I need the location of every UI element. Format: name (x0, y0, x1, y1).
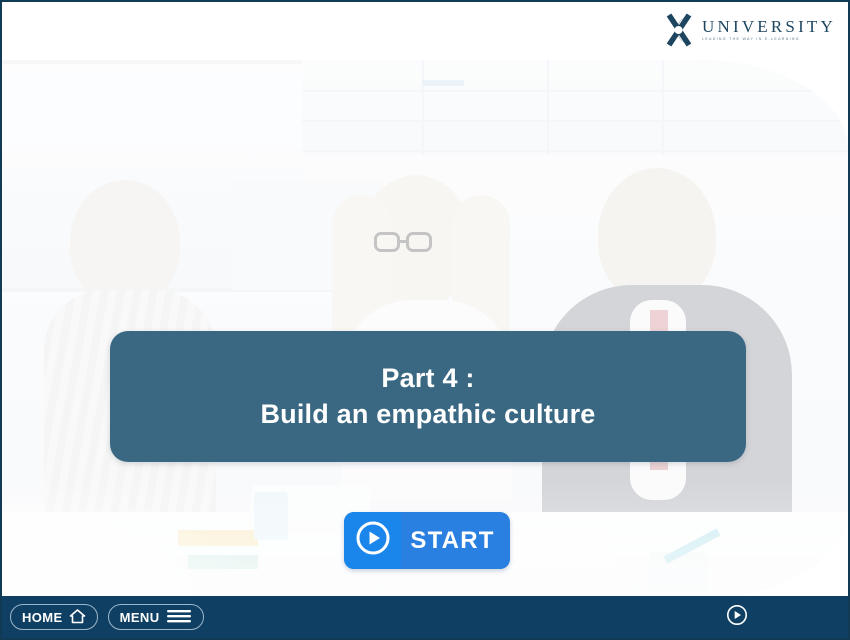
xc-monogram-icon (659, 9, 703, 51)
slide-stage: Part 4 : Build an empathic culture START (2, 60, 848, 598)
slide-title-panel: Part 4 : Build an empathic culture (110, 331, 746, 462)
home-icon (69, 608, 86, 627)
home-button-label: HOME (22, 610, 63, 625)
course-slide: UNIVERSITY LEADING THE WAY IN E-LEARNING (0, 0, 850, 640)
menu-button-label: MENU (120, 610, 160, 625)
start-play-icon-box (344, 512, 401, 569)
logo-tagline: LEADING THE WAY IN E-LEARNING (702, 38, 836, 42)
footer-nav-bar: HOME MENU (2, 596, 848, 638)
menu-button[interactable]: MENU (108, 604, 204, 630)
header-bar: UNIVERSITY LEADING THE WAY IN E-LEARNING (2, 2, 848, 60)
logo-word: UNIVERSITY (702, 18, 836, 35)
title-line-part: Part 4 : (381, 361, 474, 397)
start-button[interactable]: START (344, 512, 510, 569)
start-button-label: START (401, 527, 510, 555)
play-circle-icon (726, 604, 748, 631)
next-button[interactable] (726, 604, 748, 631)
university-logo: UNIVERSITY LEADING THE WAY IN E-LEARNING (659, 8, 836, 52)
title-line-subject: Build an empathic culture (260, 397, 595, 433)
play-circle-icon (354, 519, 392, 562)
logo-wordmark: UNIVERSITY LEADING THE WAY IN E-LEARNING (702, 18, 836, 42)
hamburger-icon (166, 608, 192, 627)
home-button[interactable]: HOME (10, 604, 98, 630)
